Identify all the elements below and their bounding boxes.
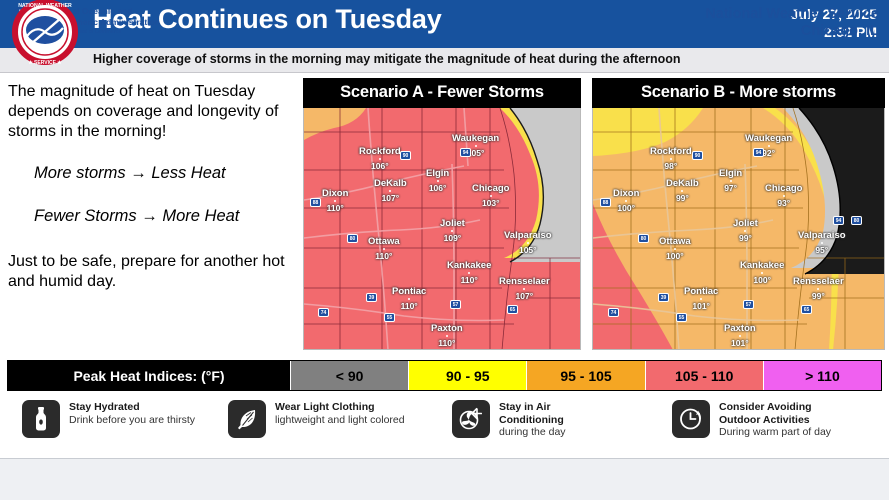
interstate-shield-icon: 39: [366, 293, 377, 302]
interstate-shield-icon: 94: [833, 216, 844, 225]
lead-paragraph: The magnitude of heat on Tuesday depends…: [8, 82, 296, 142]
nws-line-1: National Weather Service: [705, 6, 879, 23]
svg-text:★ SERVICE ★: ★ SERVICE ★: [28, 60, 62, 66]
subheader-text: Higher coverage of storms in the morning…: [93, 52, 681, 66]
tip-wear-light-clothing: Wear Light Clothing lightweight and ligh…: [228, 400, 405, 438]
interstate-shield-icon: 94: [753, 148, 764, 157]
feather-icon: [228, 400, 266, 438]
svg-text:NATIONAL WEATHER: NATIONAL WEATHER: [18, 3, 72, 9]
interstate-shield-icon: 65: [507, 305, 518, 314]
interstate-shield-icon: 74: [608, 308, 619, 317]
interstate-shield-icon: 94: [460, 148, 471, 157]
tip-avoid-outdoor-activities: Consider Avoiding Outdoor Activities Dur…: [672, 400, 831, 439]
left-text-panel: The magnitude of heat on Tuesday depends…: [8, 82, 296, 292]
closing-paragraph: Just to be safe, prepare for another hot…: [8, 252, 296, 292]
tip-title: Wear Light Clothing: [275, 401, 405, 414]
tip-subtitle: during the day: [499, 426, 595, 439]
tip-subtitle: During warm part of day: [719, 426, 831, 439]
interstate-shield-icon: 39: [658, 293, 669, 302]
interstate-shield-icon: 80: [851, 216, 862, 225]
interstate-shield-icon: 74: [318, 308, 329, 317]
scenario-a-title: Scenario A - Fewer Storms: [303, 78, 581, 108]
clock-icon: [672, 400, 710, 438]
legend-title: Peak Heat Indices: (°F): [8, 361, 290, 390]
interstate-shield-icon: 57: [450, 300, 461, 309]
arrow-line-fewer-storms: Fewer Storms → More Heat: [34, 207, 296, 226]
scenario-b-map[interactable]: Rockford98°Waukegan92°Elgin97°DeKalb99°D…: [592, 108, 885, 350]
interstate-shield-icon: 90: [692, 151, 703, 160]
arrow-line-more-storms: More storms → Less Heat: [34, 164, 296, 183]
legend-segment-3: 105 - 110: [645, 361, 763, 390]
interstate-shield-icon: 55: [676, 313, 687, 322]
scenario-a-map[interactable]: Rockford106°Waukegan105°Elgin106°DeKalb1…: [303, 108, 581, 350]
legend-segment-1: 90 - 95: [408, 361, 526, 390]
interstate-shield-icon: 88: [600, 198, 611, 207]
interstate-shield-icon: 55: [384, 313, 395, 322]
interstate-shield-icon: 57: [743, 300, 754, 309]
interstate-shield-icon: 80: [638, 234, 649, 243]
scenario-a-panel: Scenario A - Fewer Storms: [303, 78, 581, 350]
scenario-b-title: Scenario B - More storms: [592, 78, 885, 108]
safety-tips-row: Stay Hydrated Drink before you are thirs…: [0, 396, 889, 454]
scenario-b-panel: Scenario B - More storms: [592, 78, 885, 350]
water-bottle-icon: [22, 400, 60, 438]
legend-segment-2: 95 - 105: [526, 361, 644, 390]
tip-stay-hydrated: Stay Hydrated Drink before you are thirs…: [22, 400, 195, 438]
legend-bar: Peak Heat Indices: (°F) < 90 90 - 95 95 …: [7, 360, 882, 391]
tip-title: Consider Avoiding Outdoor Activities: [719, 401, 831, 426]
national-weather-service-logo: NATIONAL WEATHER ★ SERVICE ★: [3, 0, 87, 68]
nws-office-text: National Weather Service Chicago, IL: [705, 6, 879, 40]
legend-segment-0: < 90: [290, 361, 408, 390]
tip-subtitle: Drink before you are thirsty: [69, 414, 195, 427]
air-conditioner-icon: [452, 400, 490, 438]
interstate-shield-icon: 80: [347, 234, 358, 243]
page-footer: [0, 458, 889, 500]
interstate-shield-icon: 90: [400, 151, 411, 160]
legend-segment-4: > 110: [763, 361, 881, 390]
nws-line-2: Chicago, IL: [705, 23, 879, 40]
tip-subtitle: lightweight and light colored: [275, 414, 405, 427]
tip-stay-in-air-conditioning: Stay in Air Conditioning during the day: [452, 400, 595, 439]
tip-title: Stay Hydrated: [69, 401, 195, 414]
interstate-shield-icon: 65: [801, 305, 812, 314]
interstate-shield-icon: 88: [310, 198, 321, 207]
tip-title: Stay in Air Conditioning: [499, 401, 595, 426]
